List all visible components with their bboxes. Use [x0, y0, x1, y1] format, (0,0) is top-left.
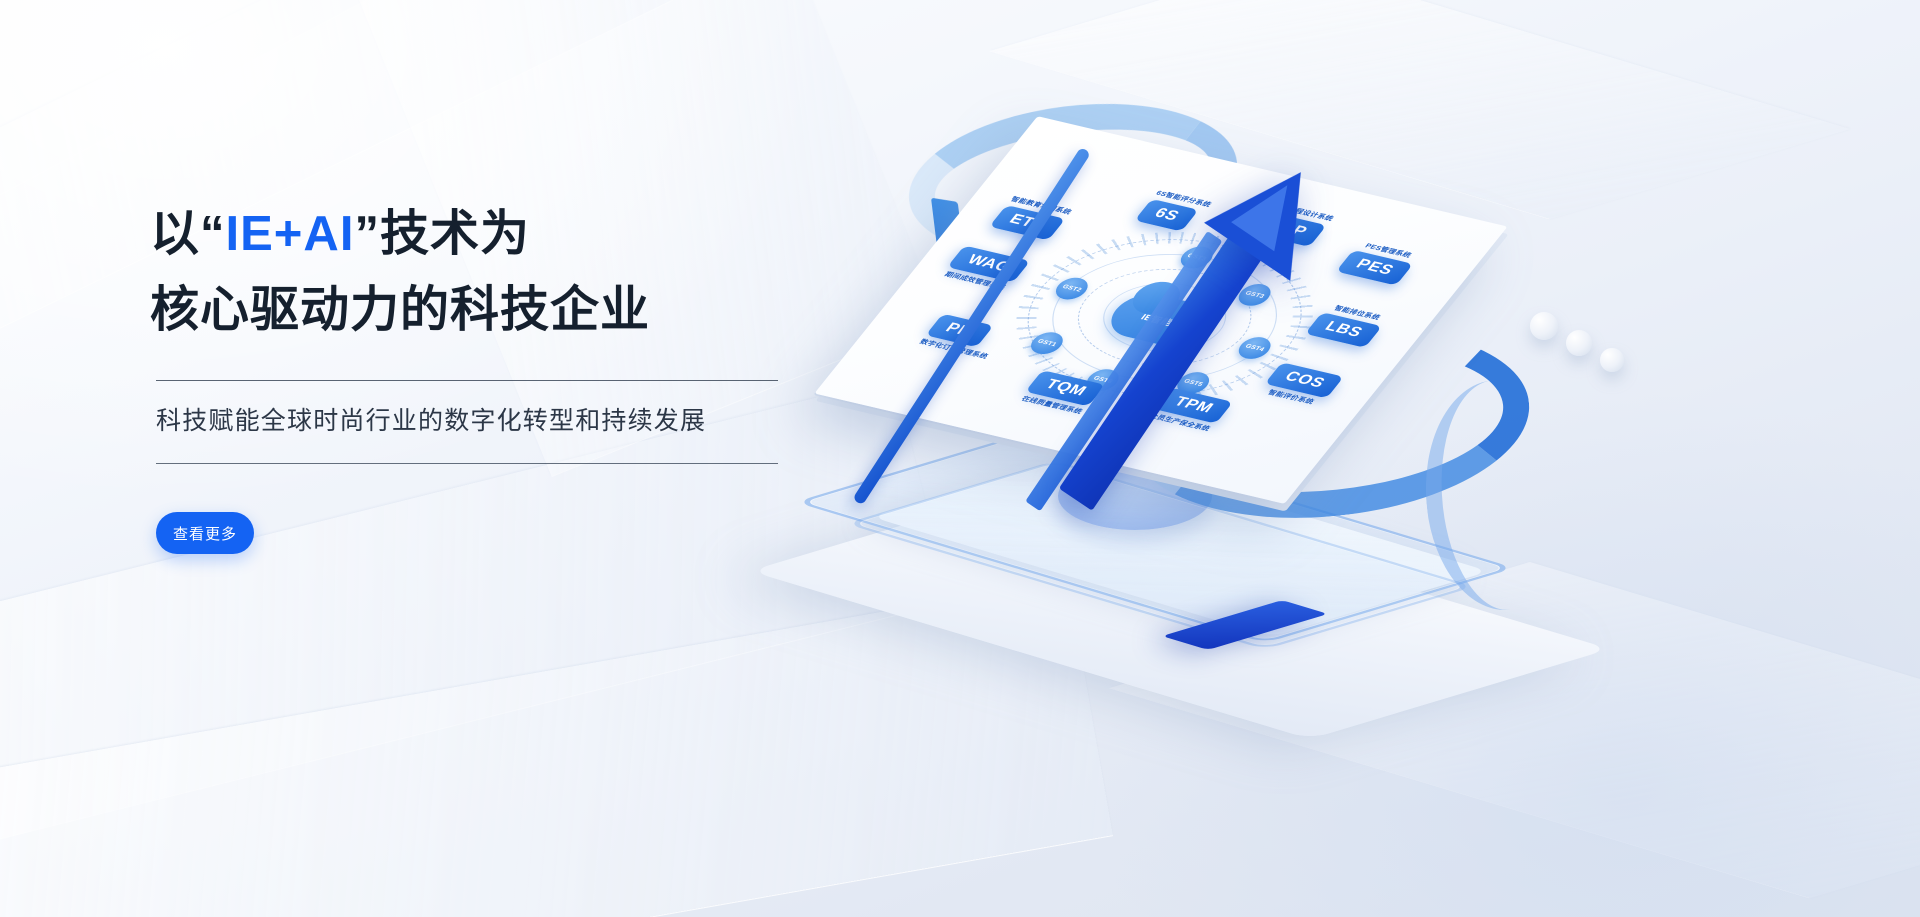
sphere-icon-2 [1566, 330, 1592, 356]
hero-banner: 以“IE+AI”技术为 核心驱动力的科技企业 科技赋能全球时尚行业的数字化转型和… [0, 0, 1920, 917]
headline-part-1: 以 [150, 207, 200, 261]
hero-copy: 以“IE+AI”技术为 核心驱动力的科技企业 科技赋能全球时尚行业的数字化转型和… [150, 196, 850, 554]
hero-illustration: IE智能化 GST3 GST3 GST2 GST4 GST1 GST5 GST6… [830, 30, 1920, 917]
divider-top [156, 380, 778, 381]
upward-arrow-icon [1148, 140, 1438, 570]
headline-quote-close: ” [354, 207, 380, 261]
view-more-button[interactable]: 查看更多 [156, 512, 254, 554]
headline-accent: IE+AI [226, 207, 355, 261]
headline-part-2: 技术为 [380, 207, 530, 261]
headline-quote-open: “ [200, 207, 226, 261]
page-subtitle: 科技赋能全球时尚行业的数字化转型和持续发展 [156, 399, 850, 443]
page-title-line-2: 核心驱动力的科技企业 [150, 272, 850, 348]
divider-bottom [156, 463, 778, 464]
page-title: 以“IE+AI”技术为 [150, 196, 850, 272]
sphere-icon-1 [1530, 312, 1558, 340]
sphere-icon-3 [1600, 348, 1624, 372]
